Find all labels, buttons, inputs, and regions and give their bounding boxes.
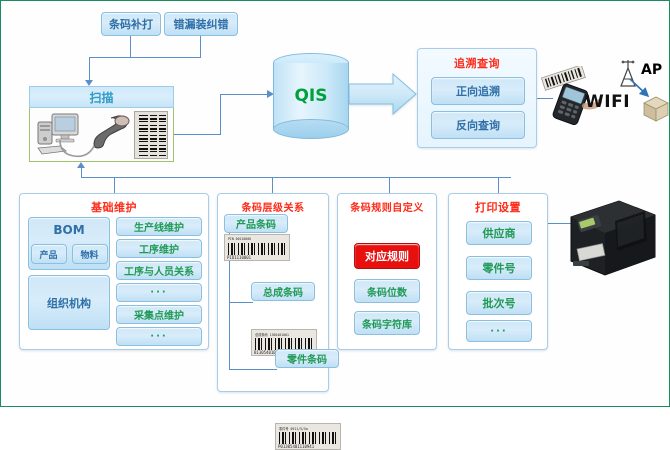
panel-print-settings: 打印设置 供应商 零件号 批次号 ··· (448, 193, 548, 350)
qis-database: QIS (273, 53, 349, 139)
label-part-barcode[interactable]: 零件条码 (275, 349, 339, 368)
item-label: 生产线维护 (134, 219, 184, 234)
label-product-barcode[interactable]: 产品条码 (224, 214, 288, 233)
panel-title: 条码层级关系 (218, 199, 328, 214)
organization-label: 组织机构 (47, 295, 91, 311)
barcode-image-part: 零件号 0911/5/5a P01305401110941 (275, 423, 341, 450)
ap-label: AP (641, 62, 662, 78)
scan-title: 扫描 (89, 89, 113, 106)
barcode-top-text: 零件号 0911/5/5a (279, 426, 308, 431)
barcode-image-product: PIN 0011000U PID1110001 (224, 234, 290, 261)
connector-drop-hierarchy (272, 177, 273, 193)
item-process-personnel-relation[interactable]: 工序与人员关系 (116, 261, 202, 280)
action-label: 错漏装纠错 (174, 16, 229, 32)
barcode-top-text: PIN 0011000U (228, 237, 251, 241)
connector-bottom-bus (81, 177, 511, 178)
qis-text: QIS (294, 86, 327, 106)
panel-title: 基础维护 (20, 199, 208, 215)
connector-bus-to-scan (81, 168, 82, 177)
item-production-line-maintenance[interactable]: 生产线维护 (116, 217, 202, 236)
label-printer-icon (557, 191, 661, 283)
connector-drop-print (498, 177, 499, 193)
panel-title-text: 打印设置 (475, 201, 521, 214)
item-label: ··· (150, 287, 167, 298)
vertical-barcode-label (134, 111, 168, 159)
hierarchy-branch-part (229, 369, 277, 370)
label-text: 总成条码 (263, 284, 303, 299)
scanner-cable (58, 138, 100, 160)
label-text: 产品条码 (236, 216, 276, 231)
bom-child-material[interactable]: 物料 (72, 244, 108, 264)
rule-digits-button[interactable]: 条码位数 (354, 279, 420, 303)
hierarchy-branch-assembly (229, 302, 253, 303)
print-part-number-button[interactable]: 零件号 (466, 256, 532, 280)
panel-title-text: 条码规则自定义 (350, 203, 424, 214)
ap-text: AP (641, 62, 662, 78)
panel-barcode-rule: 条码规则自定义 对应规则 条码位数 条码字符库 (337, 193, 437, 350)
diagram-canvas: 条码补打 错漏装纠错 扫描 (0, 0, 670, 407)
panel-trace-query: 追溯查询 正向追溯 反向查询 (417, 48, 537, 148)
panel-title: 追溯查询 (418, 55, 536, 71)
item-label: 工序与人员关系 (124, 263, 194, 278)
panel-barcode-hierarchy: 条码层级关系 产品条码 PIN 0011000U PID1110001 总成条码… (217, 193, 329, 392)
print-label: ··· (490, 326, 507, 337)
bom-block[interactable]: BOM 产品 物料 (28, 217, 110, 270)
action-label: 条码补打 (109, 16, 153, 32)
panel-title-text: 追溯查询 (454, 57, 500, 70)
panel-basic-maintenance: 基础维护 BOM 产品 物料 组织机构 生产线维护 工序维护 工 (19, 193, 209, 350)
print-more-button[interactable]: ··· (466, 320, 532, 342)
connector-correction-vertical (200, 36, 201, 57)
item-process-maintenance[interactable]: 工序维护 (116, 239, 202, 258)
panel-title-text: 基础维护 (91, 201, 137, 214)
item-more-1[interactable]: ··· (116, 283, 202, 302)
scan-header: 扫描 (29, 86, 174, 108)
item-collection-point-maintenance[interactable]: 采集点维护 (116, 305, 202, 324)
trace-reverse-button[interactable]: 反向查询 (431, 111, 525, 139)
rule-label: 条码位数 (367, 284, 407, 299)
print-supplier-button[interactable]: 供应商 (466, 221, 532, 245)
label-assembly-barcode[interactable]: 总成条码 (251, 282, 315, 301)
bom-child-label: 产品 (39, 248, 57, 261)
item-label: 采集点维护 (134, 307, 184, 322)
connector-bus-rise (220, 94, 221, 135)
print-label: 批次号 (483, 295, 516, 311)
qis-label: QIS (273, 79, 349, 113)
rule-charset-button[interactable]: 条码字符库 (354, 311, 420, 335)
rule-label: 对应规则 (365, 248, 409, 264)
bom-child-label: 物料 (80, 248, 98, 261)
print-label: 供应商 (483, 225, 516, 241)
print-batch-number-button[interactable]: 批次号 (466, 291, 532, 315)
action-box-barcode-reprint[interactable]: 条码补打 (101, 12, 161, 36)
item-label: 工序维护 (139, 241, 179, 256)
connector-bus-to-qis (220, 94, 270, 95)
rule-matching-button[interactable]: 对应规则 (354, 243, 420, 269)
item-label: ··· (150, 331, 167, 342)
panel-title: 打印设置 (449, 199, 547, 215)
item-more-2[interactable]: ··· (116, 327, 202, 346)
wifi-label: WIFI (585, 92, 630, 112)
barcode-number-text: P01305401110941 (278, 444, 314, 449)
trace-reverse-label: 反向查询 (456, 117, 500, 133)
print-label: 零件号 (483, 260, 516, 276)
connector-scan-to-bus (174, 134, 220, 135)
bom-label: BOM (53, 223, 84, 237)
connector-reprint-vertical (130, 36, 131, 57)
barcode-number-text: PID1110001 (227, 255, 251, 260)
cylinder-bottom (273, 119, 349, 139)
connector-top-bus (89, 57, 201, 58)
wireless-group: WIFI AP (541, 56, 667, 142)
bom-child-product[interactable]: 产品 (31, 244, 67, 264)
rule-label: 条码字符库 (362, 316, 412, 331)
connector-drop-rule (389, 177, 390, 193)
flow-arrow-qis-to-trace-icon (349, 73, 417, 115)
connector-to-scan-vertical (89, 57, 90, 81)
action-box-misassembly-correction[interactable]: 错漏装纠错 (164, 12, 238, 36)
trace-forward-label: 正向追溯 (456, 83, 500, 99)
organization-structure-block[interactable]: 组织机构 (28, 275, 110, 330)
label-text: 零件条码 (287, 351, 327, 366)
panel-title-text: 条码层级关系 (242, 203, 305, 214)
panel-title: 条码规则自定义 (338, 199, 436, 214)
carton-box-icon (641, 94, 670, 124)
trace-forward-button[interactable]: 正向追溯 (431, 77, 525, 105)
scan-body (29, 108, 174, 162)
connector-drop-basic (114, 177, 115, 193)
barcode-top-text: 总成条码 1305401001 (255, 332, 289, 337)
wifi-text: WIFI (585, 92, 630, 112)
